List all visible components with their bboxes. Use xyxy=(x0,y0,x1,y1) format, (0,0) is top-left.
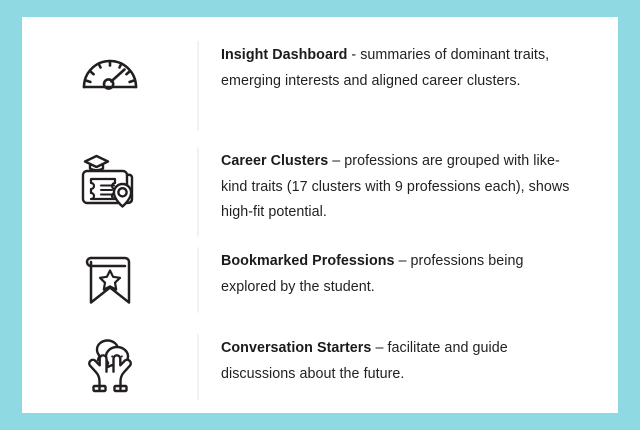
feature-paragraph: Insight Dashboard - summaries of dominan… xyxy=(221,43,573,94)
feature-row: Insight Dashboard - summaries of dominan… xyxy=(22,39,618,135)
feature-title: Conversation Starters xyxy=(221,340,371,356)
outer-teal-frame: Insight Dashboard - summaries of dominan… xyxy=(0,0,640,430)
certificate-graduation-location-icon xyxy=(78,147,142,211)
feature-icon-cell xyxy=(22,245,198,325)
feature-icon-cell xyxy=(22,332,198,412)
feature-icon-cell xyxy=(22,39,198,135)
hands-speech-bubbles-icon xyxy=(78,334,142,398)
feature-text-cell: Career Clusters – professions are groupe… xyxy=(198,145,618,226)
feature-card: Insight Dashboard - summaries of dominan… xyxy=(22,17,618,413)
feature-row: Conversation Starters – facilitate and g… xyxy=(22,332,618,412)
feature-text-cell: Conversation Starters – facilitate and g… xyxy=(198,332,618,387)
feature-title: Bookmarked Professions xyxy=(221,253,395,269)
feature-title: Insight Dashboard xyxy=(221,47,347,63)
bookmark-star-icon xyxy=(78,247,142,311)
feature-row: Career Clusters – professions are groupe… xyxy=(22,145,618,241)
feature-list: Insight Dashboard - summaries of dominan… xyxy=(22,17,618,413)
row-divider xyxy=(197,247,199,313)
feature-paragraph: Career Clusters – professions are groupe… xyxy=(221,149,573,226)
speedometer-gauge-icon xyxy=(78,41,142,105)
feature-title: Career Clusters xyxy=(221,153,328,169)
row-divider xyxy=(197,41,199,131)
feature-paragraph: Bookmarked Professions – professions bei… xyxy=(221,249,573,300)
feature-text-cell: Bookmarked Professions – professions bei… xyxy=(198,245,618,300)
feature-text-cell: Insight Dashboard - summaries of dominan… xyxy=(198,39,618,94)
row-divider xyxy=(197,334,199,400)
feature-paragraph: Conversation Starters – facilitate and g… xyxy=(221,336,573,387)
feature-row: Bookmarked Professions – professions bei… xyxy=(22,245,618,325)
feature-icon-cell xyxy=(22,145,198,241)
row-divider xyxy=(197,147,199,237)
